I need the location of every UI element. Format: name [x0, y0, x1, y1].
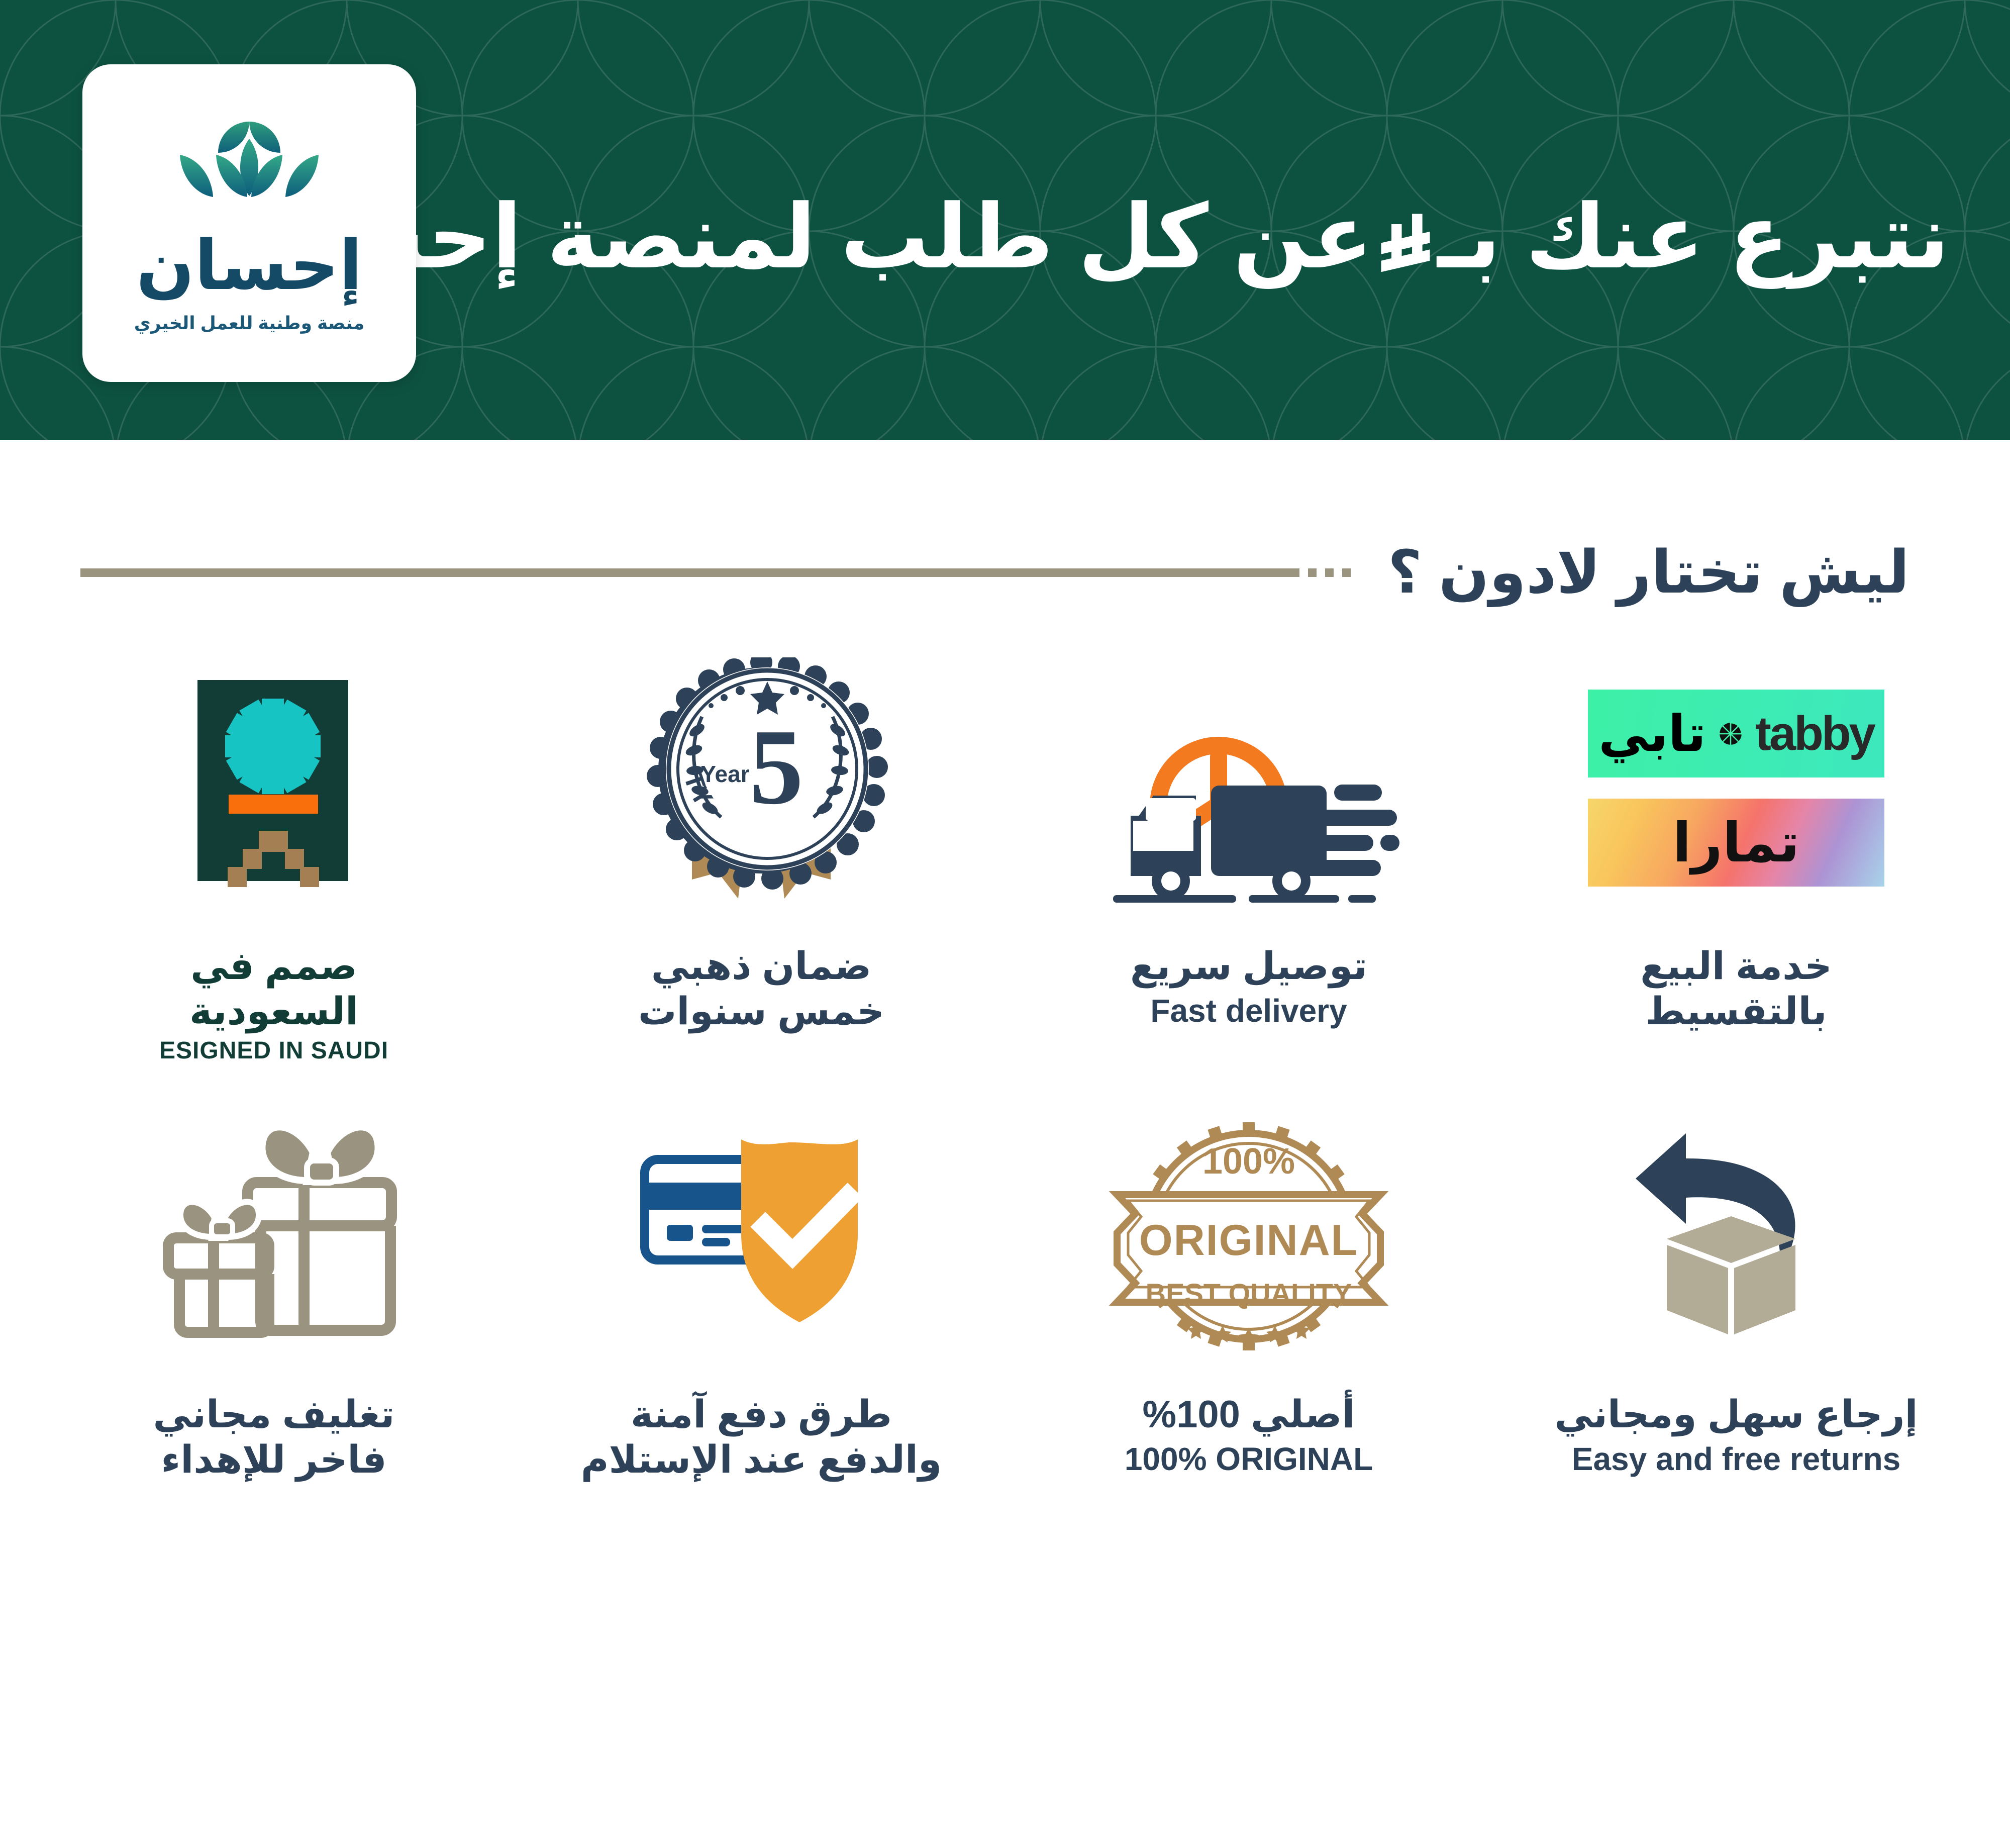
feature-label: خدمة البيع بالتقسيط [1640, 944, 1832, 1034]
divider-dash-1 [1308, 568, 1317, 577]
feature-gold-warranty[interactable]: 5 Year WARRANTY ضمان ذهبي خمس سنوات [518, 637, 1005, 1065]
tamara-badge: تمارا [1588, 799, 1884, 887]
feature-label: صمم في السعودية [189, 944, 358, 1034]
feature-label: إرجاع سهل ومجاني [1554, 1392, 1918, 1437]
feature-free-gift-wrap[interactable]: تغليف مجاني فاخر للإهداء [30, 1086, 518, 1482]
feature-sublabel: 100% ORIGINAL [1125, 1440, 1373, 1479]
ehsan-tagline: منصة وطنية للعمل الخيري [134, 313, 365, 334]
feature-fast-delivery[interactable]: توصيل سريع Fast delivery [1005, 637, 1492, 1065]
return-box-arrow-icon [1605, 1086, 1867, 1387]
tabby-arabic: تابي [1598, 709, 1706, 759]
divider-dash-2 [1325, 568, 1334, 577]
tamara-arabic: تمارا [1673, 816, 1800, 870]
feature-designed-in-saudi[interactable]: صمم في السعودية ESIGNED IN SAUDI [30, 637, 518, 1065]
five-year-warranty-badge: 5 Year WARRANTY [626, 637, 897, 939]
card-shield-check-icon [631, 1086, 892, 1387]
feature-sublabel: ESIGNED IN SAUDI [159, 1037, 388, 1065]
feature-label: توصيل سريع [1130, 944, 1367, 989]
original-quality-stamp: 100% ORIGINAL BEST QUALITY [1108, 1086, 1389, 1387]
feature-original-product[interactable]: 100% ORIGINAL BEST QUALITY أصلي 100% 100… [1005, 1086, 1492, 1482]
feature-label: تغليف مجاني فاخر للإهداء [153, 1392, 395, 1482]
feature-label: أصلي 100% [1143, 1392, 1355, 1437]
ehsan-leaf-logo [154, 113, 345, 224]
saudi-riyal-symbol [1377, 210, 1434, 280]
page-title: ليش تختار لادون ؟ [1388, 543, 1909, 602]
stamp-sub: BEST QUALITY [1146, 1278, 1352, 1309]
stamp-main: ORIGINAL [1139, 1216, 1358, 1265]
features-grid: tabby تابي تمارا خدمة البيع بالتقسيط [0, 602, 2010, 1482]
gift-boxes-icon [138, 1086, 410, 1387]
designed-in-saudi-mark [188, 637, 359, 939]
feature-label: طرق دفع آمنة والدفع عند الإستلام [581, 1392, 942, 1482]
section-header: ليش تختار لادون ؟ [0, 440, 2010, 602]
warranty-number: 5 [749, 707, 803, 827]
feature-label: ضمان ذهبي خمس سنوات [638, 944, 884, 1034]
feature-installments[interactable]: tabby تابي تمارا خدمة البيع بالتقسيط [1492, 637, 1980, 1065]
delivery-truck-clock-icon [1098, 637, 1399, 939]
feature-sublabel: Fast delivery [1150, 992, 1347, 1030]
ehsan-wordmark: إحسان [136, 231, 362, 300]
ehsan-logo-card: إحسان منصة وطنية للعمل الخيري [82, 64, 416, 382]
feature-secure-payment[interactable]: طرق دفع آمنة والدفع عند الإستلام [518, 1086, 1005, 1482]
tabby-wordmark: tabby [1755, 710, 1874, 758]
divider-bar [80, 568, 1299, 577]
tabby-badge: tabby تابي [1588, 690, 1884, 777]
section-divider [80, 568, 1351, 577]
divider-dash-3 [1342, 568, 1351, 577]
feature-sublabel: Easy and free returns [1572, 1440, 1901, 1479]
feature-easy-returns[interactable]: إرجاع سهل ومجاني Easy and free returns [1492, 1086, 1980, 1482]
tabby-tamara-badges: tabby تابي تمارا [1588, 637, 1884, 939]
stamp-percent: 100% [1202, 1141, 1295, 1182]
banner-headline: نتبرع عنك بـ عن كل طلب لمنصة إحسان [229, 189, 1950, 286]
tabby-star-icon [1719, 722, 1742, 745]
promo-banner: نتبرع عنك بـ عن كل طلب لمنصة إحسان [0, 0, 2010, 440]
headline-part-1: نتبرع عنك بـ [1438, 188, 1950, 286]
